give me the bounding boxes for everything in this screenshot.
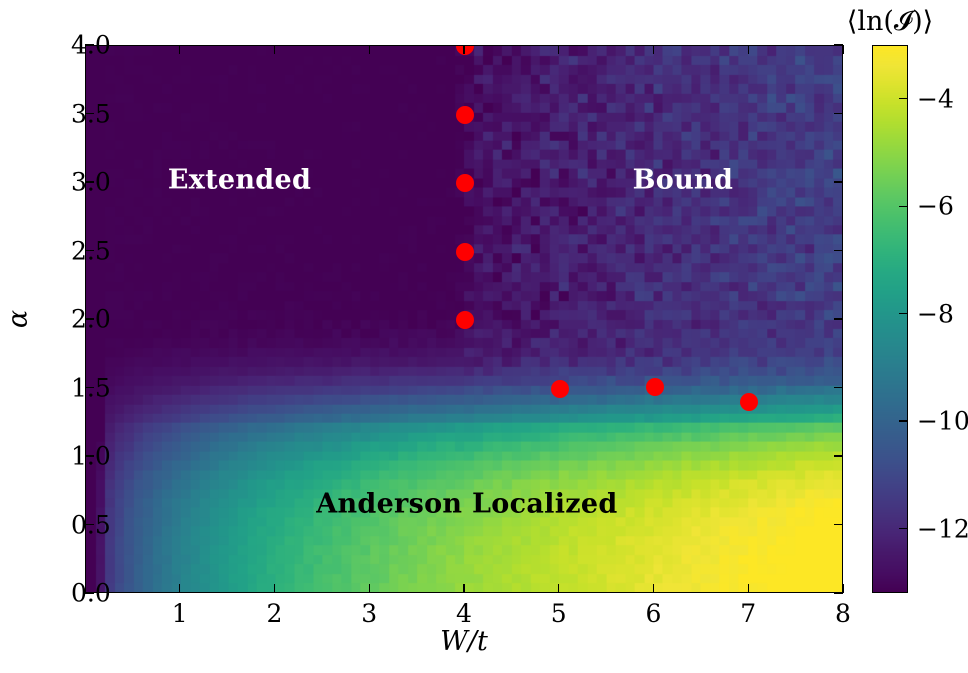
- colorbar: [872, 45, 908, 593]
- x-axis-tick: [653, 584, 654, 593]
- x-axis-label: W/t: [440, 626, 488, 657]
- x-axis-tick-label: 7: [740, 599, 756, 628]
- y-axis-label: α: [3, 310, 34, 328]
- x-axis-tick-label: 8: [835, 599, 851, 628]
- colorbar-tick-label: −6: [917, 192, 954, 221]
- y-axis-tick-right: [834, 250, 843, 251]
- region-label-anderson-localized: Anderson Localized: [316, 488, 617, 519]
- x-axis-tick-top: [558, 45, 559, 54]
- y-axis-tick-right: [834, 592, 843, 593]
- colorbar-tick-label: −8: [917, 299, 954, 328]
- transition-point-marker: [551, 380, 569, 398]
- y-axis-tick-right: [834, 387, 843, 388]
- x-axis-tick-label: 2: [267, 599, 283, 628]
- x-axis-tick: [748, 584, 749, 593]
- y-axis-tick-right: [834, 44, 843, 45]
- x-axis-tick-label: 4: [456, 599, 472, 628]
- colorbar-tick-label: −4: [917, 84, 954, 113]
- colorbar-tick-label: −10: [917, 407, 968, 436]
- phase-diagram-figure: ExtendedBoundAnderson Localized 12345678…: [0, 0, 968, 673]
- transition-point-marker: [456, 174, 474, 192]
- y-axis-tick-right: [834, 318, 843, 319]
- colorbar-tick: [899, 313, 908, 314]
- x-axis-tick-top: [179, 45, 180, 54]
- transition-point-marker: [646, 378, 664, 396]
- x-axis-tick-top: [748, 45, 749, 54]
- x-axis-tick: [463, 584, 464, 593]
- x-axis-tick: [179, 584, 180, 593]
- y-axis-tick-right: [834, 524, 843, 525]
- transition-point-marker: [456, 45, 474, 55]
- colorbar-gradient: [873, 46, 907, 592]
- transition-point-marker: [456, 106, 474, 124]
- x-axis-tick-label: 3: [361, 599, 377, 628]
- x-axis-tick: [369, 584, 370, 593]
- x-axis-tick-top: [842, 45, 843, 54]
- x-axis-tick-top: [653, 45, 654, 54]
- x-axis-tick-top: [274, 45, 275, 54]
- transition-point-marker: [740, 393, 758, 411]
- x-axis-tick-top: [369, 45, 370, 54]
- region-label-bound: Bound: [633, 165, 733, 196]
- x-axis-tick: [558, 584, 559, 593]
- transition-point-marker: [456, 243, 474, 261]
- colorbar-tick: [899, 206, 908, 207]
- colorbar-tick-label: −12: [917, 514, 968, 543]
- region-label-extended: Extended: [168, 165, 311, 196]
- y-axis-tick-right: [834, 113, 843, 114]
- x-axis-tick-label: 1: [172, 599, 188, 628]
- colorbar-tick: [899, 528, 908, 529]
- x-axis-tick-top: [463, 45, 464, 54]
- colorbar-tick: [899, 420, 908, 421]
- x-axis-tick-label: 6: [646, 599, 662, 628]
- y-axis-tick-right: [834, 181, 843, 182]
- colorbar-tick: [899, 98, 908, 99]
- x-axis-tick: [274, 584, 275, 593]
- y-axis-tick-right: [834, 455, 843, 456]
- x-axis-tick-label: 5: [551, 599, 567, 628]
- heatmap-plot-area: ExtendedBoundAnderson Localized: [85, 45, 843, 593]
- transition-point-marker: [456, 311, 474, 329]
- colorbar-label: ⟨ln(𝓘)⟩: [847, 6, 933, 38]
